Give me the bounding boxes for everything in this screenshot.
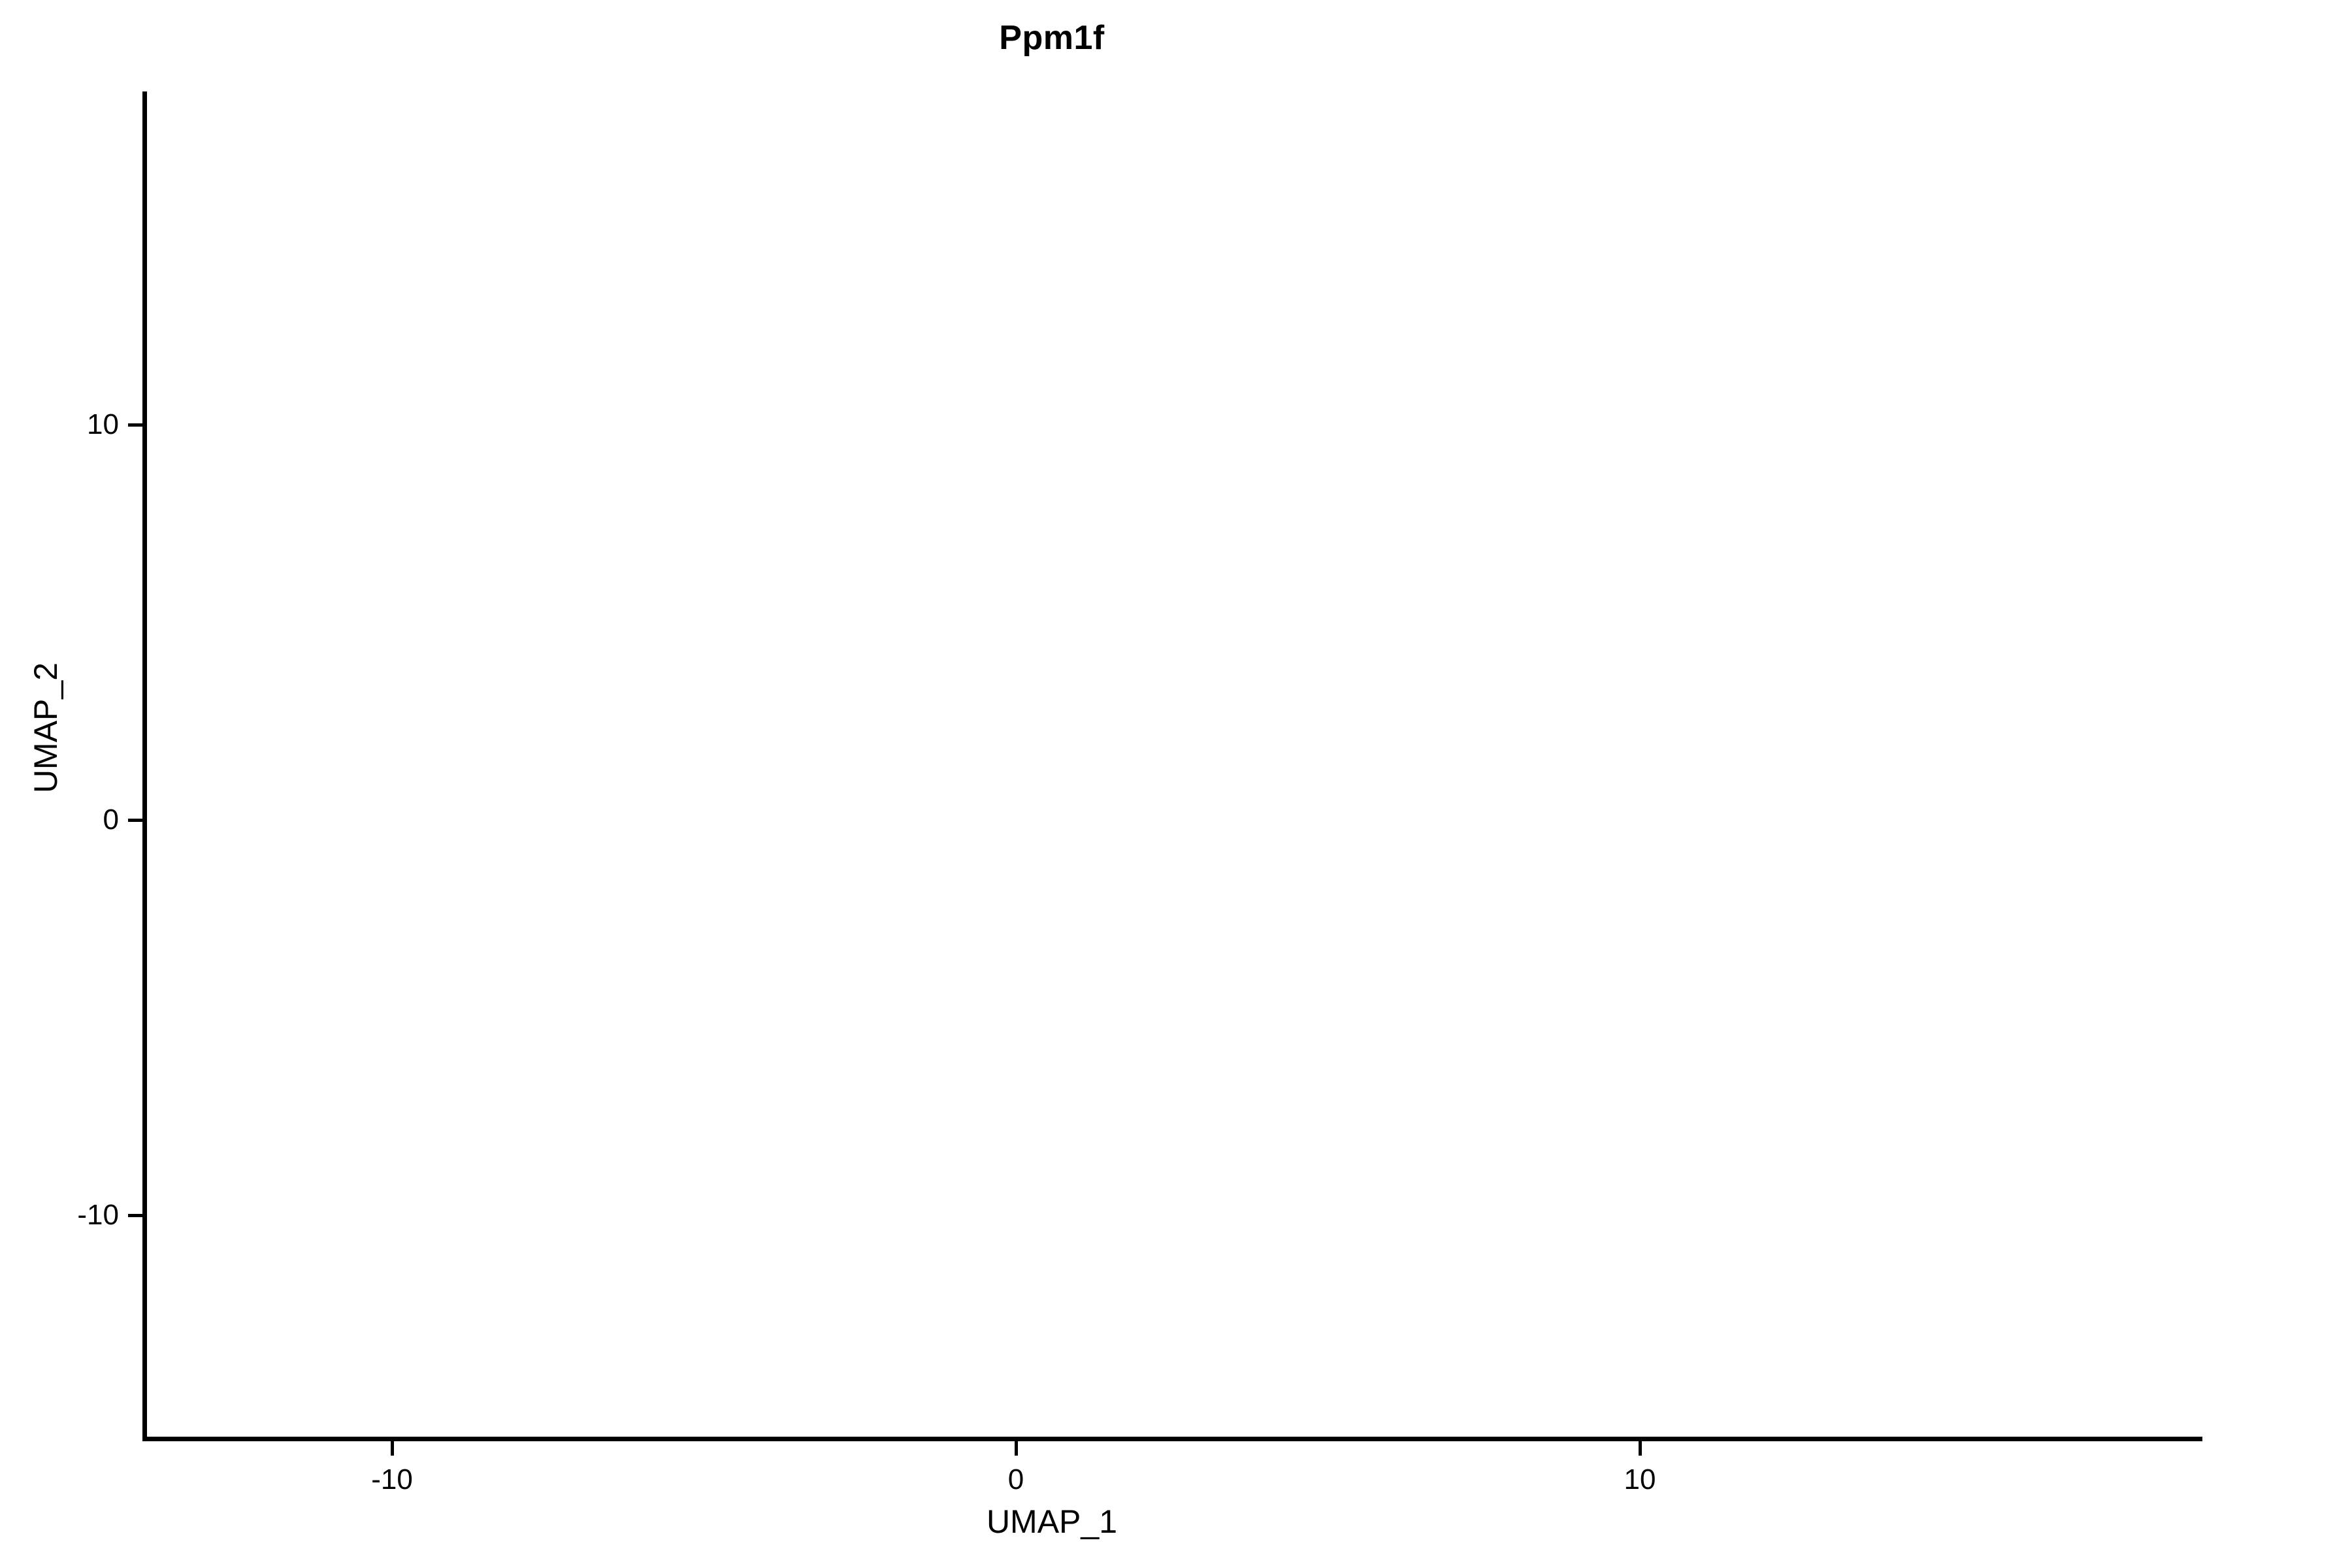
x-axis-title: UMAP_1 bbox=[0, 1503, 2228, 1541]
y-tick-label: -10 bbox=[0, 1199, 119, 1232]
y-tick-mark bbox=[128, 423, 142, 427]
y-tick-mark bbox=[128, 819, 142, 822]
y-tick-mark bbox=[128, 1214, 142, 1217]
x-tick-mark bbox=[1015, 1441, 1018, 1456]
x-tick-mark bbox=[1639, 1441, 1642, 1456]
x-tick-label: 10 bbox=[1624, 1463, 1656, 1496]
scatter-plot-canvas[interactable] bbox=[145, 91, 2202, 1439]
colorbar-gradient bbox=[2249, 670, 2289, 879]
x-tick-label: -10 bbox=[371, 1463, 413, 1496]
x-axis-line bbox=[142, 1437, 2202, 1441]
x-tick-mark bbox=[391, 1441, 394, 1456]
y-axis-title: UMAP_2 bbox=[27, 401, 65, 1054]
y-axis-line bbox=[142, 91, 147, 1441]
x-tick-label: 0 bbox=[1008, 1463, 1024, 1496]
plot-panel[interactable] bbox=[145, 91, 2202, 1439]
page-title: Ppm1f bbox=[0, 18, 2228, 57]
plot-root: Ppm1f 100-10 -10010 UMAP_1 UMAP_2 bbox=[0, 0, 2352, 1568]
colorbar-legend[interactable] bbox=[2249, 670, 2347, 892]
